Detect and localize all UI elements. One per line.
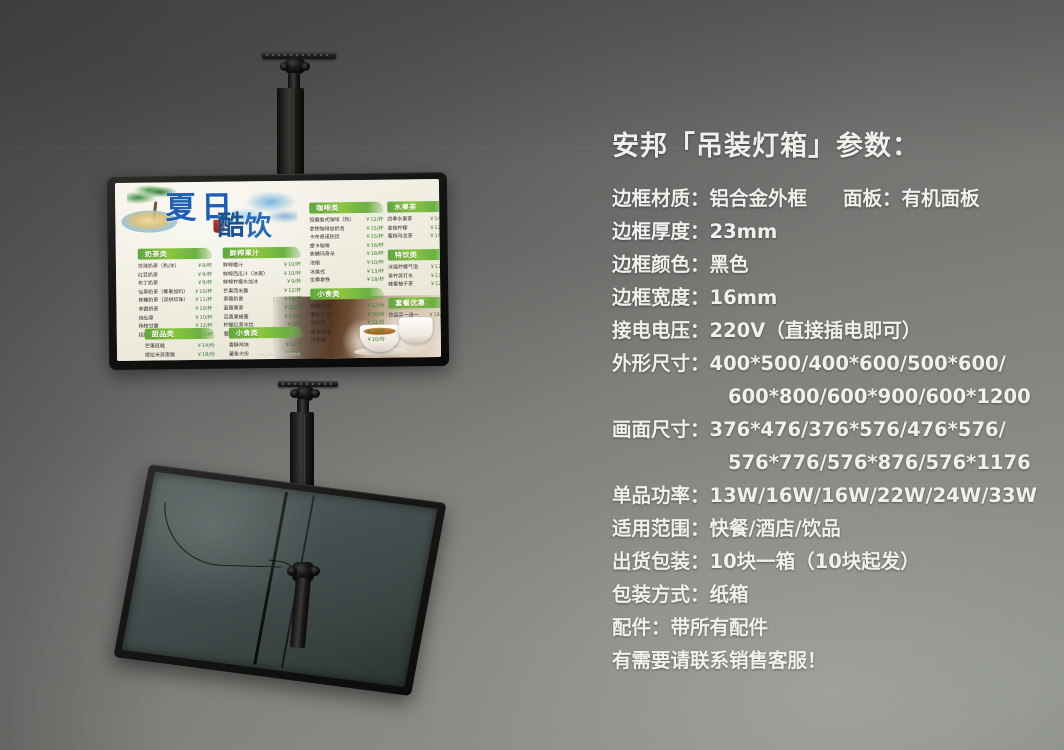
spec-line-contact-cta: 有需要请联系销售客服！ — [612, 644, 1044, 677]
spec-label: 接电电压： — [612, 314, 710, 347]
menu-section-title: 小食类 — [317, 289, 340, 299]
menu-hero-banner: 夏 日 酷 饮 — [117, 182, 302, 246]
menu-section-header: 小食类 — [229, 327, 303, 339]
swivel-knob-icon — [311, 389, 320, 398]
menu-row: 饮品买一送一￥18/套 — [389, 311, 442, 320]
spec-value: 黑色 — [710, 248, 749, 281]
mount-neck — [297, 399, 309, 413]
menu-section: 咖啡类 现磨美式咖啡（热）￥12/杯 拿铁咖啡加奶泡￥15/杯 卡布奇诺热饮￥1… — [309, 202, 384, 286]
menu-footer-text: 欢迎品尝 · 夏日清凉特饮 — [257, 352, 301, 359]
lightbox-unlit-back[interactable] — [113, 464, 446, 696]
tilt-clamp-knob-icon — [287, 566, 297, 576]
spec-value: 16mm — [710, 281, 778, 314]
menu-section: 特饮类 冰摇柠檬气泡￥12/杯 青柠苏打水￥11/杯 蜂蜜柚子茶￥12/杯 — [388, 249, 441, 290]
tilt-clamp-knob-icon — [310, 566, 320, 576]
menu-section: 水果茶 四季水果茶￥14/杯 金桔柠檬￥12/杯 蜜桃乌龙茶￥14/杯 — [387, 201, 441, 242]
menu-section-title: 特饮类 — [395, 250, 418, 260]
spec-panel: 安邦「吊装灯箱」参数： 边框材质： 铝合金外框 面板： 有机面板 边框厚度： 2… — [612, 124, 1044, 677]
spec-value-panel: 有机面板 — [902, 182, 980, 215]
spec-line-application: 适用范围： 快餐/酒店/饮品 — [612, 512, 1044, 545]
menu-section-title: 小食类 — [236, 328, 259, 338]
spec-label-panel: 面板： — [807, 182, 902, 215]
menu-row: 蜂蜜柚子茶￥12/杯 — [388, 280, 441, 289]
menu-artwork: 夏 日 酷 饮 奶茶类 — [115, 179, 441, 361]
spec-line-packaging: 包装方式： 纸箱 — [612, 578, 1044, 611]
menu-row: 生椰拿铁￥18/杯 — [310, 276, 384, 285]
lightbox-lit[interactable]: 夏 日 酷 饮 奶茶类 — [107, 172, 449, 370]
spec-value: 纸箱 — [710, 578, 749, 611]
spec-label: 单品功率： — [612, 479, 710, 512]
menu-item-list: 饮品买一送一￥18/套 — [389, 311, 442, 320]
lightbox-display-panel: 夏 日 酷 饮 奶茶类 — [115, 179, 441, 361]
menu-section: 套餐优惠 饮品买一送一￥18/套 — [388, 297, 441, 320]
hero-char: 夏 — [165, 193, 196, 224]
spec-value: 10块一箱（10块起发） — [710, 545, 920, 578]
spec-label: 出货包装： — [612, 545, 710, 578]
back-panel-split — [253, 492, 288, 665]
menu-row: 蜜桃乌龙茶￥14/杯 — [388, 232, 442, 241]
hero-char: 饮 — [244, 213, 271, 240]
mount-pole-upper — [277, 88, 304, 178]
product-photo-canvas: 夏 日 酷 饮 奶茶类 — [0, 0, 1064, 750]
mount-neck — [288, 73, 300, 89]
menu-section-title: 甜品类 — [152, 329, 175, 339]
power-cable — [160, 502, 287, 568]
spec-value-picture-size-cont: 576*776/576*876/576*1176 — [612, 446, 1044, 479]
spec-line-frame-width: 边框宽度： 16mm — [612, 281, 1044, 314]
menu-section-header: 套餐优惠 — [388, 297, 441, 309]
menu-section: 鲜榨果汁 鲜榨橙汁￥10/杯 鲜榨西瓜汁（冰爽）￥10/杯 鲜榨柠檬水加冰￥9/… — [223, 247, 302, 339]
menu-section-header: 甜品类 — [145, 328, 215, 340]
spec-line-frame-material: 边框材质： 铝合金外框 面板： 有机面板 — [612, 182, 1044, 215]
menu-section-header: 水果茶 — [387, 201, 441, 213]
spec-value: 快餐/酒店/饮品 — [710, 512, 841, 545]
menu-section-header: 鲜榨果汁 — [223, 247, 301, 259]
mount-pole-seam — [293, 90, 294, 176]
spec-value: 铝合金外框 — [710, 182, 808, 215]
spec-value: 400*500/400*600/500*600/ — [710, 347, 1006, 380]
menu-row: 洋葱圈￥10/份 — [311, 336, 385, 345]
menu-section-header: 奶茶类 — [138, 248, 212, 260]
spec-line-frame-thickness: 边框厚度： 23mm — [612, 215, 1044, 248]
spec-label: 外形尺寸： — [612, 347, 710, 380]
menu-item-list: 冰摇柠檬气泡￥12/杯 青柠苏打水￥11/杯 蜂蜜柚子茶￥12/杯 — [388, 263, 441, 290]
spec-line-power: 单品功率： 13W/16W/16W/22W/24W/33W — [612, 479, 1044, 512]
menu-section-title: 水果茶 — [394, 202, 417, 212]
spec-value: 23mm — [710, 215, 778, 248]
spec-line-picture-size: 画面尺寸： 376*476/376*576/476*576/ — [612, 413, 1044, 446]
menu-item-list: 现磨美式咖啡（热）￥12/杯 拿铁咖啡加奶泡￥15/杯 卡布奇诺热饮￥15/杯 … — [309, 216, 384, 286]
spec-value: 220V（直接插电即可） — [710, 314, 922, 347]
menu-item-list: 四季水果茶￥14/杯 金桔柠檬￥12/杯 蜜桃乌龙茶￥14/杯 — [387, 215, 441, 242]
spec-label: 边框材质： — [612, 182, 710, 215]
swivel-knob-icon — [290, 389, 299, 398]
menu-section: 甜品类 芒果班戟￥14/份 提拉米苏蛋糕￥18/份 双皮奶甜品￥12/份 红豆双… — [145, 328, 216, 361]
menu-section-title: 鲜榨果汁 — [230, 248, 260, 258]
menu-item-list: 香酥鸡块￥12/份 薯条大份￥10/份 鸡米花￥12/份 黄金鸡翅￥15/份 洋… — [310, 302, 385, 346]
menu-section-title: 奶茶类 — [145, 249, 168, 259]
spec-label: 边框颜色： — [612, 248, 710, 281]
spec-label: 配件： — [612, 611, 671, 644]
spec-value: 带所有配件 — [671, 611, 769, 644]
menu-section-title: 套餐优惠 — [395, 298, 425, 308]
spec-label: 边框厚度： — [612, 215, 710, 248]
spec-value-outer-size-cont: 600*800/600*900/600*1200 — [612, 380, 1044, 413]
spec-title: 安邦「吊装灯箱」参数： — [612, 124, 1044, 163]
spec-line-shipping-pack: 出货包装： 10块一箱（10块起发） — [612, 545, 1044, 578]
menu-section-header: 小食类 — [310, 288, 384, 300]
spec-line-frame-color: 边框颜色： 黑色 — [612, 248, 1044, 281]
lightbox-back-panel — [122, 472, 438, 687]
swivel-knob-icon — [301, 62, 310, 71]
menu-section-header: 咖啡类 — [309, 202, 383, 214]
swivel-knob-icon — [280, 62, 289, 71]
spec-label: 适用范围： — [612, 512, 710, 545]
menu-section: 小食类 香酥鸡块￥12/份 薯条大份￥10/份 鸡米花￥12/份 黄金鸡翅￥15… — [310, 288, 385, 346]
spec-value: 376*476/376*576/476*576/ — [710, 413, 1006, 446]
hero-char: 酷 — [217, 212, 244, 239]
menu-item-list: 芒果班戟￥14/份 提拉米苏蛋糕￥18/份 双皮奶甜品￥12/份 红豆双皮奶￥1… — [145, 342, 216, 361]
menu-section-header: 特饮类 — [388, 249, 441, 261]
spec-line-outer-size: 外形尺寸： 400*500/400*600/500*600/ — [612, 347, 1044, 380]
spec-label: 边框宽度： — [612, 281, 710, 314]
spec-line-accessories: 配件： 带所有配件 — [612, 611, 1044, 644]
menu-section: 奶茶类 珍珠奶茶（热/冰）￥8/杯 红豆奶茶￥9/杯 布丁奶茶￥9/杯 仙草奶茶… — [138, 248, 213, 340]
menu-section-title: 咖啡类 — [316, 203, 339, 213]
spec-line-voltage: 接电电压： 220V（直接插电即可） — [612, 314, 1044, 347]
spec-label: 画面尺寸： — [612, 413, 710, 446]
spec-cta-text: 有需要请联系销售客服！ — [612, 644, 827, 677]
spec-value: 13W/16W/16W/22W/24W/33W — [710, 479, 1037, 512]
spec-label: 包装方式： — [612, 578, 710, 611]
